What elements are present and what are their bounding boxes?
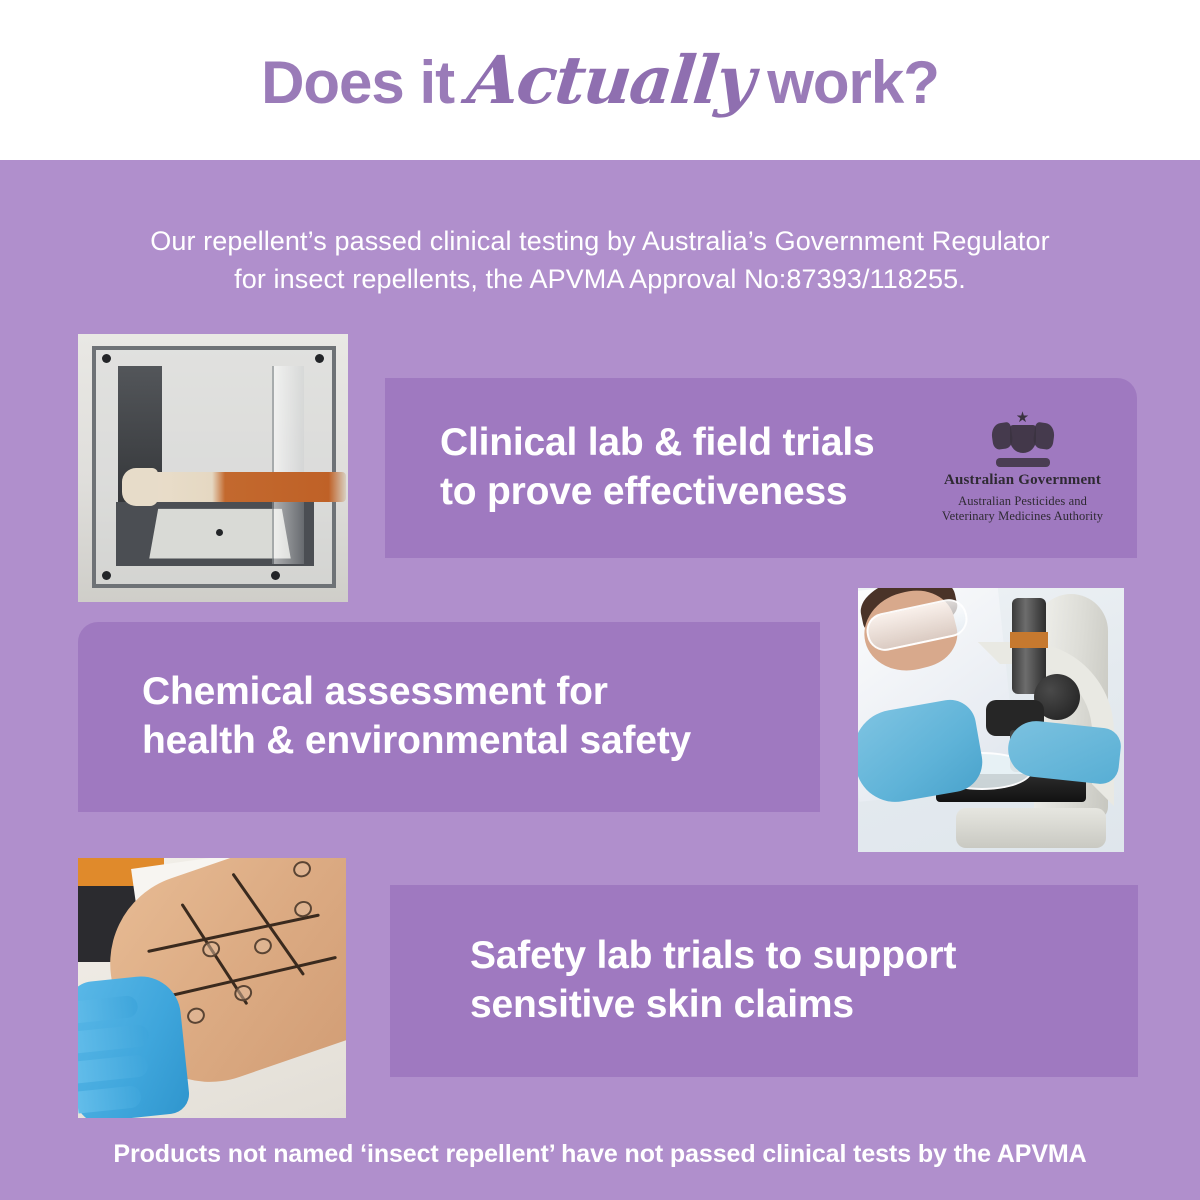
glove-finger	[78, 1085, 142, 1114]
card-clinical-trials: Clinical lab & field trials to prove eff…	[385, 378, 1137, 558]
page-title-script-word: Actually	[465, 47, 757, 113]
skin-patch-test-photo	[78, 858, 346, 1118]
page-title-part1: Does it	[261, 53, 454, 113]
card-chemical-assessment-line-1: Chemical assessment for	[142, 668, 691, 717]
page-title-part2: work?	[767, 53, 939, 113]
card-chemical-assessment-text: Chemical assessment for health & environ…	[142, 668, 691, 766]
intro-line-1: Our repellent’s passed clinical testing …	[60, 222, 1140, 260]
glove-finger	[78, 995, 139, 1024]
crest-star-shape	[1017, 411, 1029, 423]
cage-corner-bolt	[315, 354, 324, 363]
cage-corner-bolt	[102, 354, 111, 363]
card-clinical-trials-line-1: Clinical lab & field trials	[440, 419, 875, 468]
card-safety-lab-trials: Safety lab trials to support sensitive s…	[390, 885, 1138, 1077]
page-title: Does it Actually work?	[261, 47, 939, 113]
cage-corner-bolt	[102, 571, 111, 580]
arm-in-cage-test-chamber-photo	[78, 334, 348, 602]
glove-finger	[78, 1054, 149, 1084]
cage-corner-bolt	[216, 529, 223, 536]
card-safety-lab-trials-line-1: Safety lab trials to support	[470, 932, 956, 981]
poster-root: Does it Actually work? Our repellent’s p…	[0, 0, 1200, 1200]
clinician-gloved-hand	[78, 973, 191, 1118]
card-chemical-assessment: Chemical assessment for health & environ…	[78, 622, 820, 812]
test-subject-arm	[130, 472, 346, 502]
header-band: Does it Actually work?	[0, 0, 1200, 160]
skin-reaction-mark	[252, 936, 274, 957]
card-chemical-assessment-line-2: health & environmental safety	[142, 717, 691, 766]
crest-base-shape	[996, 458, 1050, 467]
cage-side-glass	[272, 366, 304, 564]
intro-paragraph: Our repellent’s passed clinical testing …	[60, 222, 1140, 299]
test-subject-hand	[122, 468, 158, 506]
glove-finger	[78, 1024, 150, 1054]
australian-coat-of-arms-icon	[990, 411, 1056, 467]
cage-corner-bolt	[271, 571, 280, 580]
crest-shield-shape	[1010, 425, 1036, 453]
card-clinical-trials-line-2: to prove effectiveness	[440, 468, 875, 517]
card-clinical-trials-text: Clinical lab & field trials to prove eff…	[440, 419, 875, 517]
scientist-microscope-photo	[858, 588, 1124, 852]
skin-reaction-mark	[200, 939, 222, 960]
footer-disclaimer: Products not named ‘insect repellent’ ha…	[0, 1140, 1200, 1169]
card-safety-lab-trials-line-2: sensitive skin claims	[470, 981, 956, 1030]
allergy-grid-line	[231, 873, 305, 976]
intro-line-2: for insect repellents, the APVMA Approva…	[60, 260, 1140, 298]
crest-emu-shape	[1032, 422, 1055, 451]
allergy-grid-line	[147, 913, 320, 953]
skin-reaction-mark	[291, 859, 313, 880]
skin-reaction-mark	[185, 1005, 207, 1026]
microscope-base	[956, 808, 1106, 848]
microscope-tube-band	[1010, 632, 1048, 648]
crest-kangaroo-shape	[990, 422, 1013, 451]
cage-glass-box	[92, 346, 336, 588]
apvma-authority-line-1: Australian Pesticides and	[930, 494, 1115, 510]
apvma-government-label: Australian Government	[930, 472, 1115, 489]
apvma-logo: Australian Government Australian Pestici…	[930, 411, 1115, 525]
card-safety-lab-trials-text: Safety lab trials to support sensitive s…	[470, 932, 956, 1030]
apvma-authority-line-2: Veterinary Medicines Authority	[930, 509, 1115, 525]
